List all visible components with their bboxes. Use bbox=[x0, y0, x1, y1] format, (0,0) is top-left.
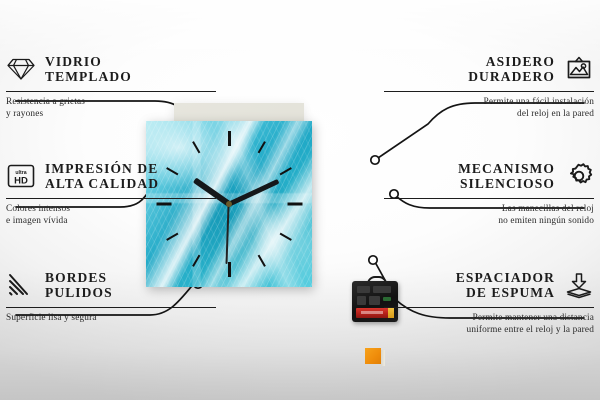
feature-impresion-alta-calidad: ultra HD IMPRESIÓN DE ALTA CALIDAD Color… bbox=[6, 157, 216, 228]
feature-header: MECANISMO SILENCIOSO bbox=[384, 157, 594, 195]
feature-subtitle: Colores intensos e imagen vívida bbox=[6, 203, 216, 227]
feature-subtitle: Permite una fácil instalación del reloj … bbox=[384, 96, 594, 120]
infographic-canvas: VIDRIO TEMPLADO Resistencia a grietas y … bbox=[0, 0, 600, 400]
feature-divider bbox=[6, 307, 216, 308]
clock-minute-hand bbox=[228, 179, 279, 206]
feature-espaciador-de-espuma: ESPACIADOR DE ESPUMA Permite mantener un… bbox=[384, 266, 594, 337]
foam-spacer-pad bbox=[365, 348, 381, 364]
feature-header: ESPACIADOR DE ESPUMA bbox=[384, 266, 594, 304]
clock-tick bbox=[287, 203, 302, 206]
feature-divider bbox=[6, 198, 216, 199]
clock-hand-cap bbox=[226, 201, 232, 207]
feature-title: ESPACIADOR DE ESPUMA bbox=[456, 270, 555, 300]
clock-tick bbox=[192, 141, 200, 153]
feature-header: ultra HD IMPRESIÓN DE ALTA CALIDAD bbox=[6, 157, 216, 195]
clock-tick bbox=[228, 262, 231, 277]
foam-spacer bbox=[365, 348, 384, 367]
feature-title: VIDRIO TEMPLADO bbox=[45, 54, 132, 84]
feature-header: VIDRIO TEMPLADO bbox=[6, 50, 216, 88]
feature-asidero-duradero: ASIDERO DURADERO Permite una fácil insta… bbox=[384, 50, 594, 121]
feature-title: BORDES PULIDOS bbox=[45, 270, 113, 300]
feature-divider bbox=[384, 91, 594, 92]
feature-subtitle: Superficie lisa y segura bbox=[6, 312, 216, 324]
feature-subtitle: Permite mantener una distancia uniforme … bbox=[384, 312, 594, 336]
clock-tick bbox=[192, 255, 200, 267]
foam-spacer-side bbox=[381, 350, 385, 366]
diamond-icon bbox=[6, 54, 36, 84]
feature-bordes-pulidos: BORDES PULIDOS Superficie lisa y segura bbox=[6, 266, 216, 324]
feature-subtitle: Las manecillas del reloj no emiten ningú… bbox=[384, 203, 594, 227]
feature-header: BORDES PULIDOS bbox=[6, 266, 216, 304]
feature-divider bbox=[6, 91, 216, 92]
feature-vidrio-templado: VIDRIO TEMPLADO Resistencia a grietas y … bbox=[6, 50, 216, 121]
feature-divider bbox=[384, 307, 594, 308]
ultra-hd-icon: ultra HD bbox=[6, 161, 36, 191]
polished-edges-icon bbox=[6, 270, 36, 300]
feature-title: MECANISMO SILENCIOSO bbox=[458, 161, 555, 191]
picture-hanger-icon bbox=[564, 54, 594, 84]
foam-spacer-icon bbox=[564, 270, 594, 300]
feature-title: IMPRESIÓN DE ALTA CALIDAD bbox=[45, 161, 159, 191]
battery-label-stripe bbox=[361, 311, 383, 314]
feature-header: ASIDERO DURADERO bbox=[384, 50, 594, 88]
clock-tick bbox=[228, 131, 231, 146]
svg-text:HD: HD bbox=[14, 176, 28, 187]
clock-tick bbox=[166, 233, 178, 241]
feature-mecanismo-silencioso: MECANISMO SILENCIOSO Las manecillas del … bbox=[384, 157, 594, 228]
feature-title: ASIDERO DURADERO bbox=[468, 54, 555, 84]
clock-tick bbox=[280, 233, 292, 241]
clock-tick bbox=[258, 255, 266, 267]
feature-divider bbox=[384, 198, 594, 199]
clock-tick bbox=[280, 167, 292, 175]
gear-icon bbox=[564, 161, 594, 191]
feature-subtitle: Resistencia a grietas y rayones bbox=[6, 96, 216, 120]
clock-second-hand bbox=[226, 204, 230, 264]
clock-tick bbox=[258, 141, 266, 153]
